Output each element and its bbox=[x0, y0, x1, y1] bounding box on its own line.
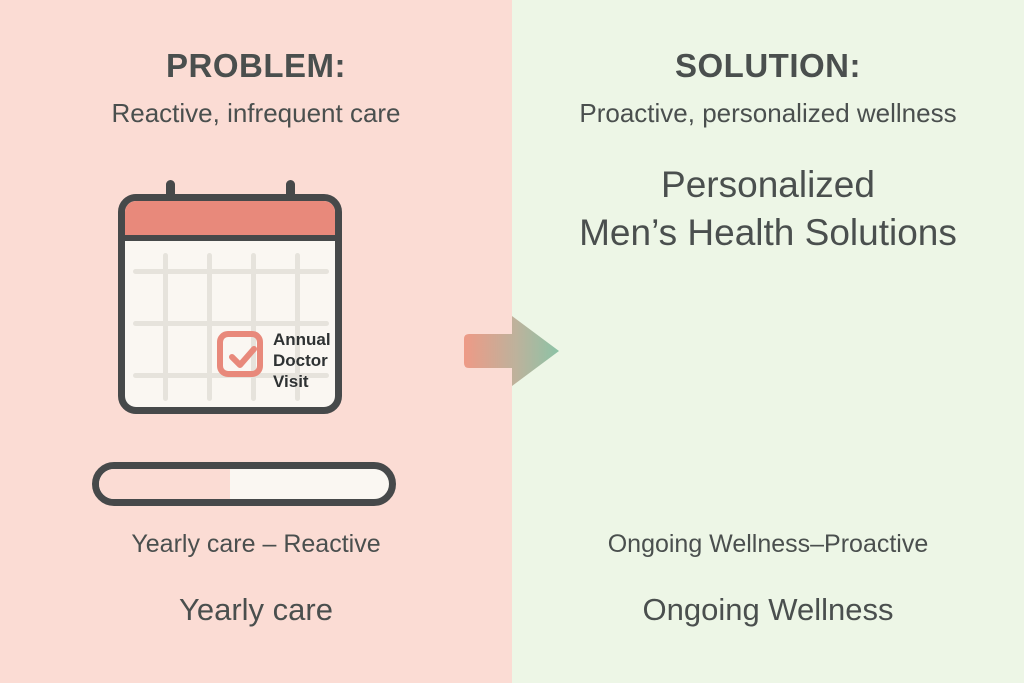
calendar-illustration: Annual Doctor Visit bbox=[110, 180, 350, 420]
annual-visit-label: Annual Doctor Visit bbox=[273, 329, 331, 392]
solution-panel: SOLUTION: Proactive, personalized wellne… bbox=[512, 0, 1024, 683]
annual-visit-label-line: Doctor bbox=[273, 350, 331, 371]
solution-title-line: Personalized bbox=[512, 161, 1024, 209]
problem-panel: PROBLEM: Reactive, infrequent care bbox=[0, 0, 512, 683]
yearly-care-progress-bar bbox=[92, 462, 396, 506]
progress-fill bbox=[99, 469, 230, 499]
solution-subkicker: Proactive, personalized wellness bbox=[512, 98, 1024, 129]
solution-title-line: Men’s Health Solutions bbox=[512, 209, 1024, 257]
calendar-gridline-h bbox=[133, 321, 329, 326]
check-icon bbox=[226, 340, 260, 374]
solution-title: Personalized Men’s Health Solutions bbox=[512, 161, 1024, 257]
solution-kicker: SOLUTION: bbox=[512, 47, 1024, 85]
problem-subkicker: Reactive, infrequent care bbox=[0, 98, 512, 129]
annual-visit-label-line: Visit bbox=[273, 371, 331, 392]
right-arrow-icon bbox=[462, 312, 562, 390]
solution-footer-label: Ongoing Wellness bbox=[512, 592, 1024, 628]
calendar-gridline-h bbox=[133, 269, 329, 274]
annual-visit-checkbox[interactable] bbox=[217, 331, 263, 377]
calendar-header-band bbox=[125, 201, 335, 241]
calendar-gridline-v bbox=[163, 253, 168, 401]
problem-footer-label: Yearly care bbox=[0, 592, 512, 628]
calendar-gridline-v bbox=[207, 253, 212, 401]
problem-bar-caption: Yearly care – Reactive bbox=[0, 530, 512, 559]
comparison-infographic: PROBLEM: Reactive, infrequent care bbox=[0, 0, 1024, 683]
annual-visit-label-line: Annual bbox=[273, 329, 331, 350]
solution-bar-caption: Ongoing Wellness–Proactive bbox=[512, 530, 1024, 559]
calendar-gridline-v bbox=[251, 253, 256, 401]
calendar-body: Annual Doctor Visit bbox=[118, 194, 342, 414]
problem-kicker: PROBLEM: bbox=[0, 47, 512, 85]
